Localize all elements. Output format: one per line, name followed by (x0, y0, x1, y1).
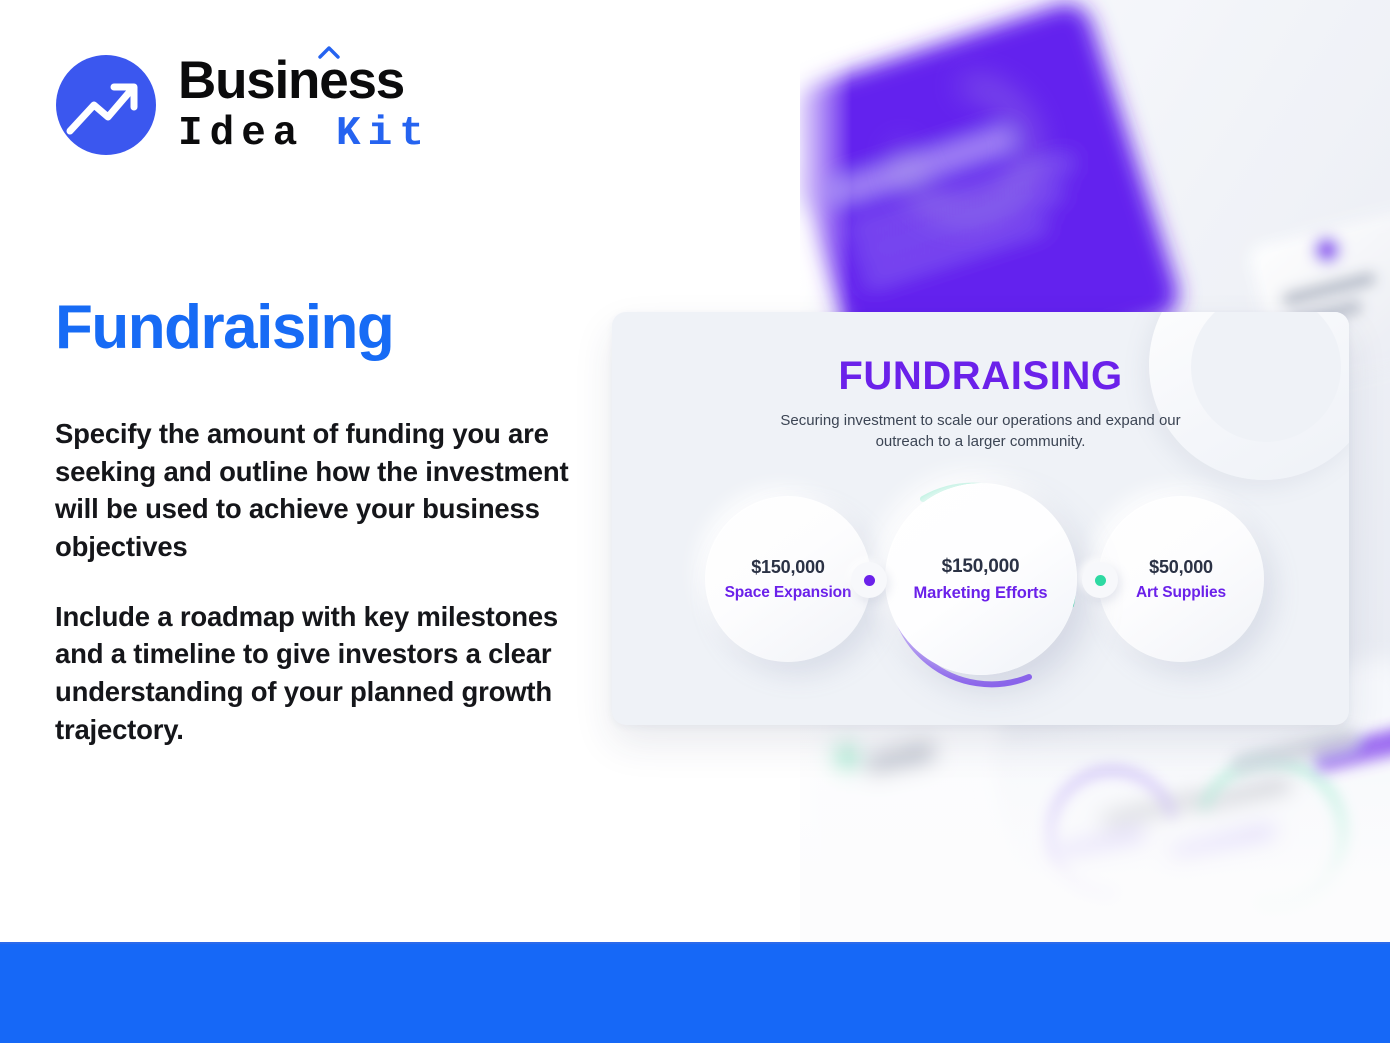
funding-circles-group: $150,000 Space Expansion $150,000 Market… (612, 472, 1349, 692)
dot-purple-icon (864, 575, 875, 586)
photo-bottom-fade (792, 702, 1390, 942)
funding-label: Space Expansion (725, 584, 852, 602)
footer-bar-top-hairline (0, 942, 1390, 944)
brand-name-line1: Business (178, 54, 431, 107)
funding-item-art-supplies[interactable]: $50,000 Art Supplies (1098, 496, 1264, 662)
funding-amount: $150,000 (751, 556, 824, 579)
dot-green-icon (1095, 575, 1106, 586)
brand-name-kit: Kit (336, 111, 431, 157)
description-paragraph-1: Specify the amount of funding you are se… (55, 415, 575, 566)
card-subtitle: Securing investment to scale our operati… (771, 410, 1191, 453)
funding-item-space-expansion[interactable]: $150,000 Space Expansion (705, 496, 871, 662)
funding-label: Marketing Efforts (914, 584, 1048, 603)
brand-logo[interactable]: Business Idea Kit (56, 54, 431, 155)
fundraising-slide-card: FUNDRAISING Securing investment to scale… (612, 312, 1349, 725)
circumflex-accent-icon (318, 46, 340, 59)
footer-bar (0, 942, 1390, 1043)
brand-name-idea: Idea (178, 111, 304, 157)
connector-dot-left (851, 562, 887, 598)
description-block: Specify the amount of funding you are se… (55, 415, 575, 748)
trending-up-arrow-icon (56, 55, 156, 155)
funding-item-marketing-efforts[interactable]: $150,000 Marketing Efforts (885, 483, 1077, 675)
brand-name-line2: Idea Kit (178, 114, 431, 155)
description-paragraph-2: Include a roadmap with key milestones an… (55, 598, 575, 749)
slide-page: Business Idea Kit Fundraising Specify th… (0, 0, 1390, 1043)
page-title: Fundraising (55, 295, 393, 360)
connector-dot-right (1082, 562, 1118, 598)
funding-label: Art Supplies (1136, 584, 1226, 602)
brand-wordmark: Business Idea Kit (178, 54, 431, 155)
funding-amount: $150,000 (942, 555, 1020, 579)
funding-amount: $50,000 (1149, 556, 1213, 579)
brand-name-line1-text: Business (178, 51, 404, 110)
card-title: FUNDRAISING (612, 354, 1349, 399)
